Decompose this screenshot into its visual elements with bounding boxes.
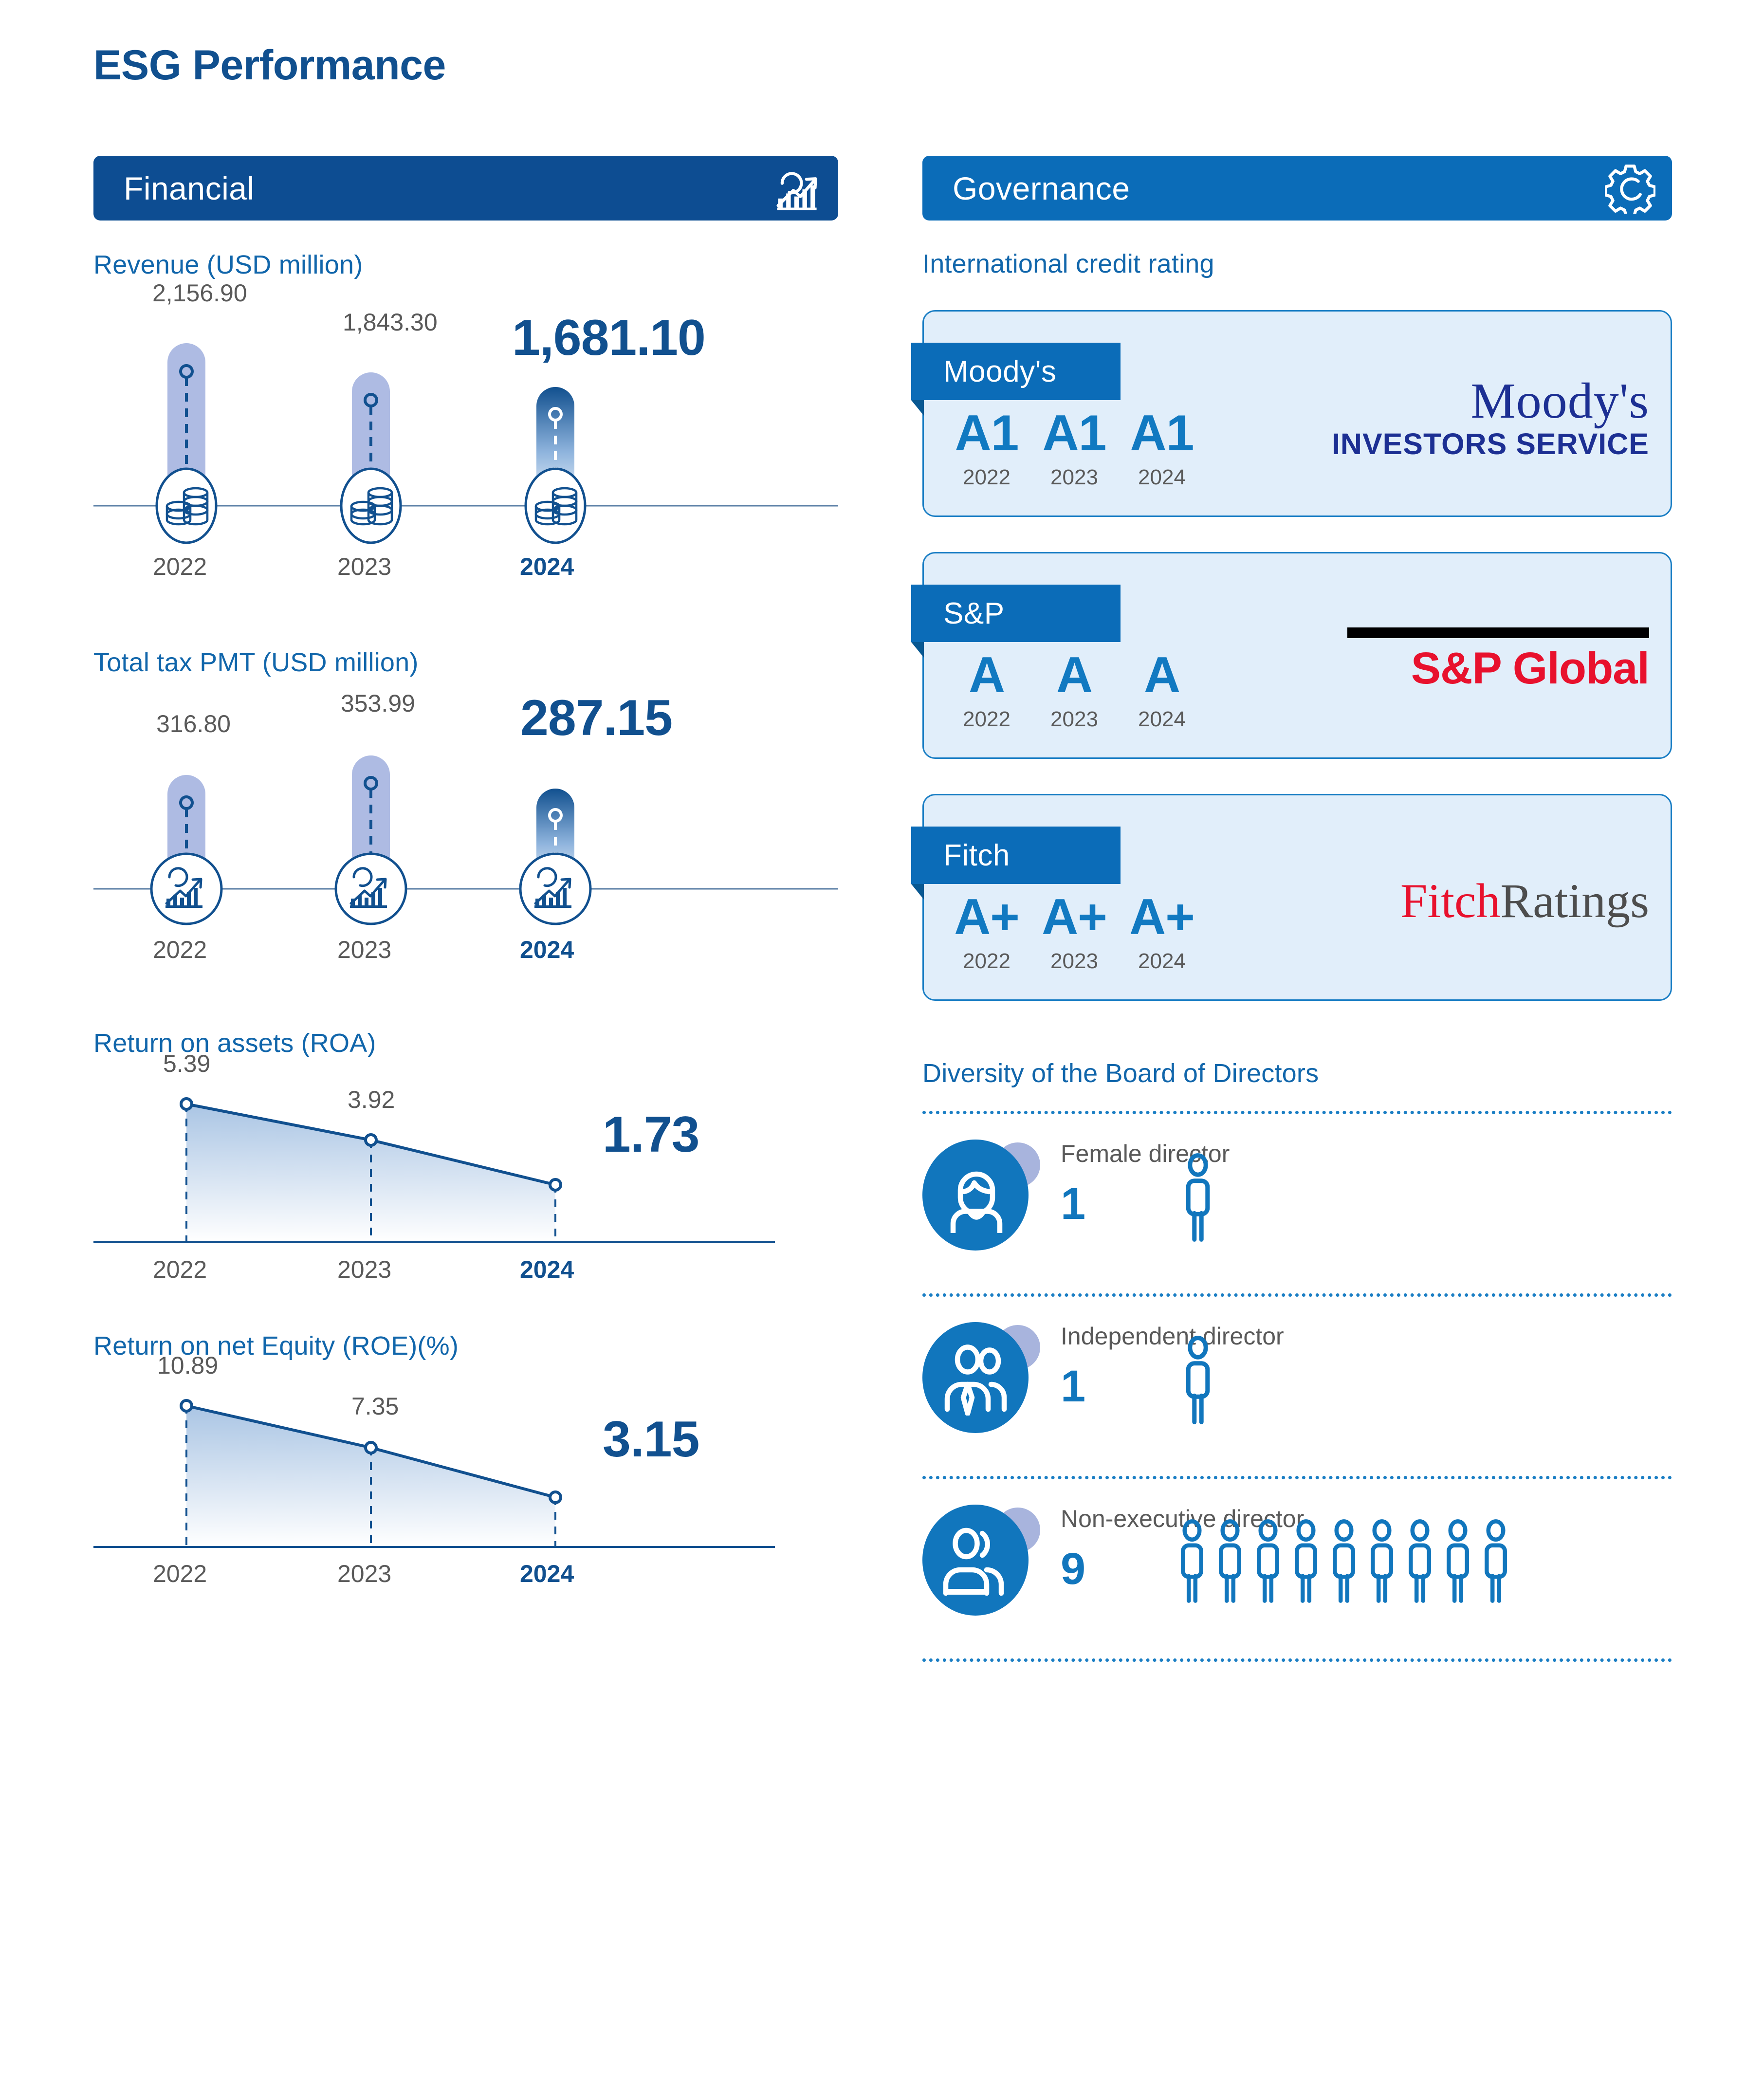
roe-value-label-2022: 10.89 xyxy=(157,1351,218,1380)
roa-chart-svg xyxy=(93,1083,838,1268)
financial-section-header: Financial xyxy=(93,156,838,221)
divider xyxy=(922,1293,1672,1297)
diversity-text: Independent director 1 xyxy=(1061,1318,1284,1409)
rating-cell: A+ 2022 xyxy=(950,892,1023,974)
rating-year: 2023 xyxy=(1038,707,1111,732)
person-figure-icon xyxy=(1251,1518,1285,1604)
rating-cell: A+ 2023 xyxy=(1038,892,1111,974)
roa-year-label-2022: 2022 xyxy=(153,1255,207,1284)
esg-performance-infographic: ESG Performance Financial xyxy=(0,0,1764,2079)
rating-grade: A+ xyxy=(950,892,1023,942)
diversity-section-label: Diversity of the Board of Directors xyxy=(922,1058,1672,1088)
sp-global-logo: S&P Global xyxy=(1313,598,1649,720)
rating-cell: A 2022 xyxy=(950,650,1023,732)
roa-value-label-2023: 3.92 xyxy=(348,1085,395,1114)
rating-year: 2022 xyxy=(950,949,1023,974)
roe-area-chart: 10.89 7.35 3.15 2022 2023 2024 xyxy=(93,1385,838,1573)
rating-year: 2023 xyxy=(1038,949,1111,974)
person-figure-icon xyxy=(1176,1518,1209,1604)
two-people-figure-icon xyxy=(940,1524,1013,1598)
diversity-figure-row xyxy=(1180,1153,1215,1242)
diversity-row-independent-director: Independent director 1 xyxy=(922,1318,1672,1449)
rating-ribbon-moodys: Moody's xyxy=(911,343,1121,400)
person-figure-icon xyxy=(1365,1518,1398,1604)
diversity-count: 1 xyxy=(1061,1364,1284,1409)
tax-year-label-2023: 2023 xyxy=(337,936,391,964)
rating-cell: A 2024 xyxy=(1125,650,1198,732)
person-figure-icon xyxy=(1289,1518,1323,1604)
roe-year-label-2022: 2022 xyxy=(153,1560,207,1588)
person-figure-icon xyxy=(1327,1518,1360,1604)
fitch-logo-wordmark: FitchRatings xyxy=(1400,877,1649,925)
revenue-value-label-2023: 1,843.30 xyxy=(343,308,438,336)
independent-director-icon xyxy=(922,1318,1044,1440)
sp-logo-wordmark: S&P Global xyxy=(1411,646,1649,691)
rating-ribbon-sp: S&P xyxy=(911,585,1121,642)
credit-rating-section-label: International credit rating xyxy=(922,249,1672,279)
rating-grade: A1 xyxy=(950,408,1023,459)
rating-ribbon-fitch: Fitch xyxy=(911,827,1121,884)
rating-cell: A+ 2024 xyxy=(1125,892,1198,974)
roa-year-label-2024: 2024 xyxy=(520,1255,574,1284)
rating-grade: A xyxy=(1038,650,1111,700)
tax-value-label-2022: 316.80 xyxy=(156,710,231,738)
sp-logo-rule xyxy=(1347,627,1649,638)
rating-grades-fitch: A+ 2022 A+ 2023 A+ 2024 xyxy=(950,892,1198,974)
rating-grade: A xyxy=(950,650,1023,700)
rating-year: 2022 xyxy=(950,707,1023,732)
roe-value-label-2024: 3.15 xyxy=(603,1411,699,1469)
revenue-year-label-2024: 2024 xyxy=(520,552,574,581)
female-figure-icon xyxy=(940,1159,1013,1233)
divider xyxy=(922,1476,1672,1479)
tax-chart-svg xyxy=(93,697,838,970)
governance-section-title: Governance xyxy=(953,170,1130,207)
governance-section-header: Governance xyxy=(922,156,1672,221)
revenue-year-label-2022: 2022 xyxy=(153,552,207,581)
rating-year: 2024 xyxy=(1125,707,1198,732)
rating-year: 2023 xyxy=(1038,465,1111,490)
roa-year-label-2023: 2023 xyxy=(337,1255,391,1284)
rating-cell: A 2023 xyxy=(1038,650,1111,732)
rating-cell: A1 2023 xyxy=(1038,408,1111,490)
growth-chart-icon xyxy=(771,163,822,214)
roe-year-label-2023: 2023 xyxy=(337,1560,391,1588)
roe-year-label-2024: 2024 xyxy=(520,1560,574,1588)
rating-grade: A xyxy=(1125,650,1198,700)
female-director-icon xyxy=(922,1136,1044,1257)
diversity-figure-row xyxy=(1176,1518,1512,1604)
rating-year: 2024 xyxy=(1125,949,1198,974)
rating-grade: A+ xyxy=(1038,892,1111,942)
roe-value-label-2023: 7.35 xyxy=(351,1392,399,1420)
roa-value-label-2022: 5.39 xyxy=(163,1049,210,1078)
tax-value-label-2024: 287.15 xyxy=(520,689,672,747)
rating-card-moodys: Moody's A1 2022 A1 2023 A1 2024 Moody's xyxy=(922,310,1672,517)
roa-value-label-2024: 1.73 xyxy=(603,1106,699,1164)
rating-card-fitch: Fitch A+ 2022 A+ 2023 A+ 2024 FitchRatin… xyxy=(922,794,1672,1001)
rating-grades-sp: A 2022 A 2023 A 2024 xyxy=(950,650,1198,732)
revenue-chart-block: Revenue (USD million) xyxy=(93,250,838,587)
revenue-value-label-2024: 1,681.10 xyxy=(512,309,705,367)
fitch-logo-part2: Ratings xyxy=(1500,874,1649,928)
person-figure-icon xyxy=(1180,1153,1215,1242)
revenue-value-label-2022: 2,156.90 xyxy=(152,279,247,307)
tax-year-label-2024: 2024 xyxy=(520,936,574,964)
non-executive-director-icon xyxy=(922,1501,1044,1622)
divider xyxy=(922,1658,1672,1662)
tax-thermometer-chart: 316.80 353.99 287.15 2022 2023 2024 xyxy=(93,697,838,970)
gear-icon xyxy=(1605,163,1655,214)
ribbon-fold xyxy=(911,400,924,416)
rating-cell: A1 2024 xyxy=(1125,408,1198,490)
rating-card-sp: S&P A 2022 A 2023 A 2024 S&P Global xyxy=(922,552,1672,759)
rating-grade: A+ xyxy=(1125,892,1198,942)
rating-year: 2024 xyxy=(1125,465,1198,490)
rating-grade: A1 xyxy=(1125,408,1198,459)
revenue-chart-title: Revenue (USD million) xyxy=(93,250,838,280)
rating-cell: A1 2022 xyxy=(950,408,1023,490)
financial-column: Financial Revenue (USD million) xyxy=(93,156,838,1573)
person-figure-icon xyxy=(1213,1518,1247,1604)
person-figure-icon xyxy=(1180,1336,1215,1424)
diversity-row-female-director: Female director 1 xyxy=(922,1136,1672,1266)
fitch-ratings-logo: FitchRatings xyxy=(1313,840,1649,962)
rating-grade: A1 xyxy=(1038,408,1111,459)
tax-chart-block: Total tax PMT (USD million) xyxy=(93,647,838,970)
roa-chart-block: Return on assets (ROA) xyxy=(93,1028,838,1270)
rating-grades-moodys: A1 2022 A1 2023 A1 2024 xyxy=(950,408,1198,490)
diversity-label: Independent director xyxy=(1061,1322,1284,1350)
person-figure-icon xyxy=(1479,1518,1512,1604)
tax-chart-title: Total tax PMT (USD million) xyxy=(93,647,838,678)
fitch-logo-part1: Fitch xyxy=(1400,874,1501,928)
person-figure-icon xyxy=(1403,1518,1436,1604)
revenue-chart-svg xyxy=(93,299,838,587)
roe-chart-svg xyxy=(93,1385,838,1570)
revenue-thermometer-chart: 2,156.90 1,843.30 1,681.10 2022 2023 202… xyxy=(93,299,838,587)
person-figure-icon xyxy=(1441,1518,1474,1604)
financial-section-title: Financial xyxy=(124,170,255,207)
rating-year: 2022 xyxy=(950,465,1023,490)
page-title: ESG Performance xyxy=(93,41,446,90)
diversity-figure-row xyxy=(1180,1336,1215,1424)
roe-chart-block: Return on net Equity (ROE)(%) xyxy=(93,1331,838,1573)
ribbon-fold xyxy=(911,642,924,658)
diversity-row-non-executive-director: Non-executive director 9 xyxy=(922,1501,1672,1631)
revenue-year-label-2023: 2023 xyxy=(337,552,391,581)
tax-year-label-2022: 2022 xyxy=(153,936,207,964)
tax-value-label-2023: 353.99 xyxy=(341,689,415,718)
diversity-section: Diversity of the Board of Directors xyxy=(922,1058,1672,1662)
group-figure-icon xyxy=(940,1342,1013,1416)
roa-area-chart: 5.39 3.92 1.73 2022 2023 2024 xyxy=(93,1083,838,1270)
governance-column: Governance International credit rating M… xyxy=(922,156,1672,1662)
ribbon-fold xyxy=(911,884,924,900)
moodys-logo-wordmark: Moody's xyxy=(1470,376,1649,426)
divider xyxy=(922,1111,1672,1114)
moodys-logo: Moody's INVESTORS SERVICE xyxy=(1313,356,1649,478)
moodys-logo-tagline: INVESTORS SERVICE xyxy=(1332,429,1649,459)
